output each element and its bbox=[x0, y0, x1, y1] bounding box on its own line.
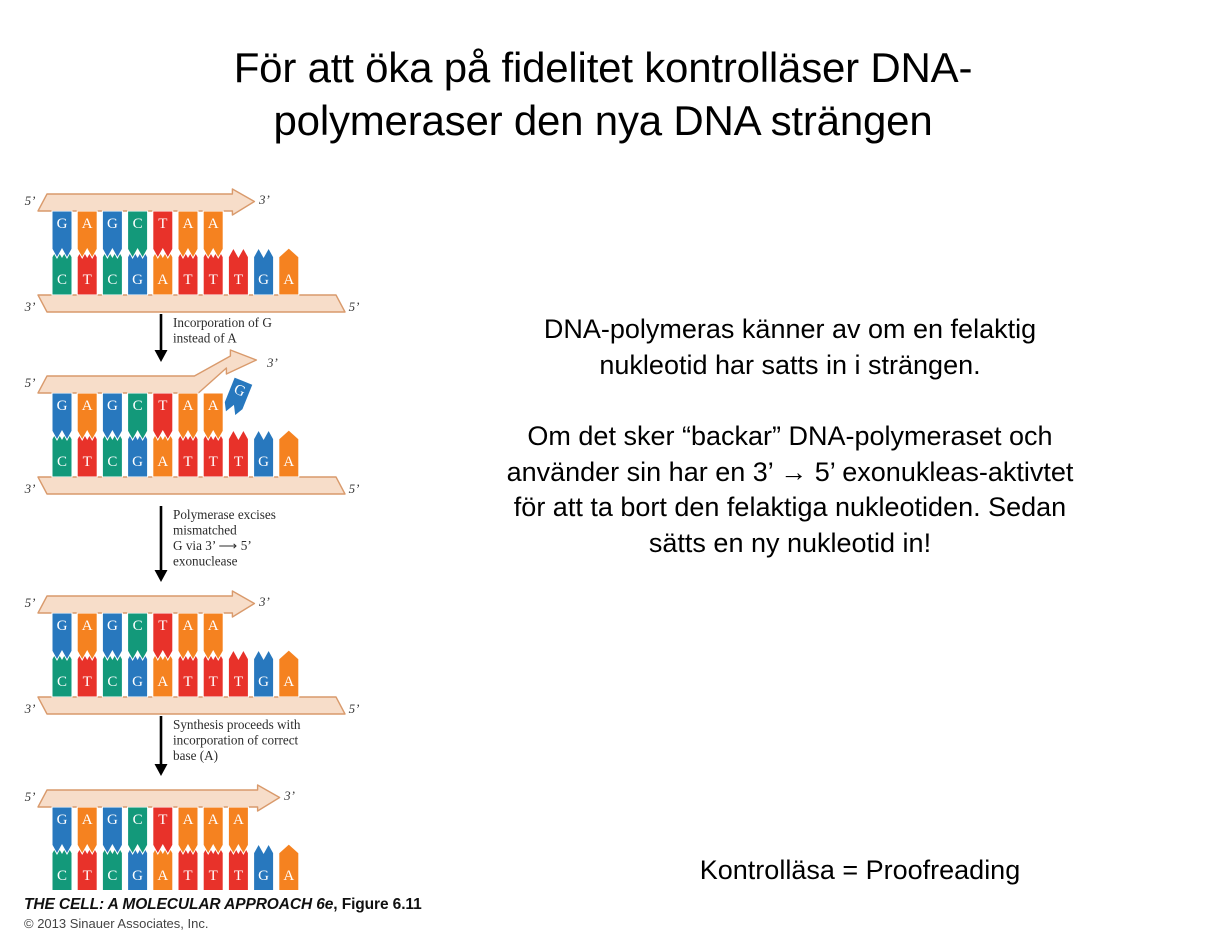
panel-1-bottom-base-letter-10: A bbox=[283, 272, 294, 288]
panel-3-top-base-letter-1: G bbox=[57, 618, 68, 634]
panel-2-top-base-letter-6: A bbox=[183, 398, 194, 414]
body-paragraph-2-line-4: sätts en ny nukleotid in! bbox=[430, 526, 1150, 562]
panel-3: CTCGATTTGAGAGCTAA5’3’3’5’ bbox=[24, 591, 360, 716]
panel-4-top-base-letter-3: G bbox=[107, 812, 118, 828]
panel-2-bottom-backbone bbox=[38, 477, 345, 494]
panel-3-top-left-end-label: 5’ bbox=[25, 595, 36, 610]
body-paragraph-1-line-2: nukleotid har satts in i strängen. bbox=[430, 348, 1150, 384]
panel-2-top-base-letter-1: G bbox=[57, 398, 68, 414]
panel-1-bottom-backbone bbox=[38, 295, 345, 312]
panel-2-bottom-base-letter-9: G bbox=[258, 454, 269, 470]
panel-1-bottom-left-end-label: 3’ bbox=[24, 299, 36, 314]
panel-4-bottom-base-letter-5: A bbox=[157, 868, 168, 884]
panel-2-bottom-base-letter-5: A bbox=[157, 454, 168, 470]
panel-4-bottom-base-letter-6: T bbox=[183, 868, 192, 884]
panel-2-bottom-base-letter-2: T bbox=[83, 454, 92, 470]
body-paragraph-2-line-3: för att ta bort den felaktiga nukleotide… bbox=[430, 490, 1150, 526]
panel-4-bottom-base-letter-10: A bbox=[283, 868, 294, 884]
annotation-1-line-1: Incorporation of G bbox=[173, 315, 272, 330]
panel-2-top-base-letter-4: C bbox=[133, 398, 143, 414]
panel-1-bottom-base-letter-6: T bbox=[183, 272, 192, 288]
panel-2-top-base-letter-3: G bbox=[107, 398, 118, 414]
annotation-3-line-2: incorporation of correct bbox=[173, 733, 299, 748]
panel-3-top-base-letter-3: G bbox=[107, 618, 118, 634]
panel-1-top-base-letter-2: A bbox=[82, 216, 93, 232]
panel-2-top-base-letter-7: A bbox=[208, 398, 219, 414]
panel-2: CTCGATTTGAGAGCTAAG5’3’3’5’ bbox=[24, 350, 360, 496]
panel-1-top-left-end-label: 5’ bbox=[25, 193, 36, 208]
panel-1-bottom-base-letter-1: C bbox=[57, 272, 67, 288]
panel-3-top-base-letter-2: A bbox=[82, 618, 93, 634]
panel-4-bottom-base-letter-9: G bbox=[258, 868, 269, 884]
body-paragraph-2-line-1: Om det sker “backar” DNA-polymeraset och bbox=[430, 419, 1150, 455]
annotation-2-line-1: Polymerase excises bbox=[173, 507, 276, 522]
panel-1-top-base-letter-3: G bbox=[107, 216, 118, 232]
panel-4-top-base-letter-6: A bbox=[183, 812, 194, 828]
panel-2-bottom-base-letter-6: T bbox=[183, 454, 192, 470]
annotation-2-line-4: exonuclease bbox=[173, 554, 238, 569]
page-title-line-1: För att öka på fidelitet kontrolläser DN… bbox=[60, 42, 1146, 95]
annotation-3-line-1: Synthesis proceeds with bbox=[173, 717, 301, 732]
annotation-3-arrow-head bbox=[155, 764, 168, 776]
panel-4-top-base-letter-7: A bbox=[208, 812, 219, 828]
panel-3-bottom-left-end-label: 3’ bbox=[24, 701, 36, 716]
panel-3-bottom-base-letter-5: A bbox=[157, 674, 168, 690]
panel-3-bottom-right-end-label: 5’ bbox=[349, 701, 360, 716]
panel-3-bottom-base-letter-2: T bbox=[83, 674, 92, 690]
panel-1-top-base-letter-1: G bbox=[57, 216, 68, 232]
panel-2-top-base-letter-2: A bbox=[82, 398, 93, 414]
panel-2-mismatched-nucleotide-G: G bbox=[221, 377, 253, 418]
panel-4: CTCGATTTGAGAGCTAAA5’3’3’5’ bbox=[24, 785, 360, 890]
panel-4-bottom-base-letter-8: T bbox=[234, 868, 243, 884]
annotation-1: Incorporation of Ginstead of A bbox=[155, 314, 273, 362]
panel-3-bottom-base-letter-3: C bbox=[107, 674, 117, 690]
annotation-1-line-2: instead of A bbox=[173, 331, 237, 346]
panel-1-top-base-letter-7: A bbox=[208, 216, 219, 232]
panel-2-bottom-right-end-label: 5’ bbox=[349, 481, 360, 496]
panel-2-bottom-base-letter-3: C bbox=[107, 454, 117, 470]
panel-2-top-right-end-label: 3’ bbox=[266, 355, 278, 370]
panel-1-top-base-letter-4: C bbox=[133, 216, 143, 232]
panel-3-top-base-letter-5: T bbox=[158, 618, 167, 634]
panel-2-bottom-base-letter-10: A bbox=[283, 454, 294, 470]
figure-credit-title: THE CELL: A MOLECULAR APPROACH 6e, Figur… bbox=[24, 896, 454, 914]
figure-credit: THE CELL: A MOLECULAR APPROACH 6e, Figur… bbox=[24, 896, 454, 931]
panel-4-bottom-base-letter-1: C bbox=[57, 868, 67, 884]
panel-1-bottom-base-letter-3: C bbox=[107, 272, 117, 288]
panel-3-bottom-backbone bbox=[38, 697, 345, 714]
panel-1-bottom-base-letter-4: G bbox=[132, 272, 143, 288]
panel-2-top-base-letter-5: T bbox=[158, 398, 167, 414]
body-paragraph-1: DNA-polymeras känner av om en felaktig n… bbox=[430, 312, 1150, 383]
dna-proofreading-svg: CTCGATTTGAGAGCTAA5’3’3’5’CTCGATTTGAGAGCT… bbox=[14, 178, 364, 890]
annotation-1-arrow-head bbox=[155, 350, 168, 362]
panel-4-bottom-base-letter-4: G bbox=[132, 868, 143, 884]
page-title: För att öka på fidelitet kontrolläser DN… bbox=[60, 42, 1146, 147]
panel-4-top-left-end-label: 5’ bbox=[25, 789, 36, 804]
panel-4-bottom-base-letter-2: T bbox=[83, 868, 92, 884]
panel-3-top-base-letter-4: C bbox=[133, 618, 143, 634]
panel-3-bottom-base-letter-6: T bbox=[183, 674, 192, 690]
panel-3-top-right-end-label: 3’ bbox=[258, 594, 270, 609]
annotation-3: Synthesis proceeds withincorporation of … bbox=[155, 716, 301, 776]
panel-1-bottom-base-letter-7: T bbox=[209, 272, 218, 288]
figure-credit-figure-number: , Figure 6.11 bbox=[333, 896, 421, 913]
panel-1-top-base-letter-6: A bbox=[183, 216, 194, 232]
panel-2-bottom-left-end-label: 3’ bbox=[24, 481, 36, 496]
panel-2-bottom-base-letter-8: T bbox=[234, 454, 243, 470]
panel-3-bottom-base-letter-4: G bbox=[132, 674, 143, 690]
panel-3-top-base-letter-7: A bbox=[208, 618, 219, 634]
panel-2-top-backbone-arrow bbox=[38, 350, 256, 393]
annotation-3-line-3: base (A) bbox=[173, 748, 218, 763]
panel-3-top-base-letter-6: A bbox=[183, 618, 194, 634]
panel-4-bottom-base-letter-3: C bbox=[107, 868, 117, 884]
panel-3-bottom-base-letter-7: T bbox=[209, 674, 218, 690]
body-paragraph-2: Om det sker “backar” DNA-polymeraset och… bbox=[430, 419, 1150, 562]
panel-2-top-left-end-label: 5’ bbox=[25, 375, 36, 390]
annotation-2-line-2: mismatched bbox=[173, 523, 237, 538]
panel-4-top-base-letter-1: G bbox=[57, 812, 68, 828]
panel-2-bottom-base-letter-7: T bbox=[209, 454, 218, 470]
body-paragraph-1-line-1: DNA-polymeras känner av om en felaktig bbox=[430, 312, 1150, 348]
annotation-2-line-3: G via 3’ ⟶ 5’ bbox=[173, 538, 252, 553]
panel-4-top-base-letter-8: A bbox=[233, 812, 244, 828]
annotation-2-arrow-head bbox=[155, 570, 168, 582]
dna-proofreading-figure: CTCGATTTGAGAGCTAA5’3’3’5’CTCGATTTGAGAGCT… bbox=[14, 178, 364, 890]
annotation-2: Polymerase excisesmismatchedG via 3’ ⟶ 5… bbox=[155, 506, 276, 582]
panel-4-top-base-letter-2: A bbox=[82, 812, 93, 828]
panel-1-bottom-base-letter-2: T bbox=[83, 272, 92, 288]
panel-3-bottom-base-letter-8: T bbox=[234, 674, 243, 690]
panel-1-bottom-base-letter-8: T bbox=[234, 272, 243, 288]
page-title-line-2: polymeraser den nya DNA strängen bbox=[60, 95, 1146, 148]
body-text-block: DNA-polymeras känner av om en felaktig n… bbox=[430, 312, 1150, 561]
panel-3-bottom-base-letter-10: A bbox=[283, 674, 294, 690]
panel-1-top-base-letter-5: T bbox=[158, 216, 167, 232]
panel-4-top-right-end-label: 3’ bbox=[283, 788, 295, 803]
panel-3-bottom-base-letter-9: G bbox=[258, 674, 269, 690]
panel-3-bottom-base-letter-1: C bbox=[57, 674, 67, 690]
panel-4-top-base-letter-4: C bbox=[133, 812, 143, 828]
figure-credit-book: THE CELL: A MOLECULAR APPROACH 6e bbox=[24, 896, 333, 913]
body-paragraph-2-line-2: använder sin har en 3’ → 5’ exonukleas-a… bbox=[430, 455, 1150, 491]
figure-credit-copyright: © 2013 Sinauer Associates, Inc. bbox=[24, 916, 454, 931]
panel-2-bottom-base-letter-4: G bbox=[132, 454, 143, 470]
panel-2-bottom-base-letter-1: C bbox=[57, 454, 67, 470]
panel-1: CTCGATTTGAGAGCTAA5’3’3’5’ bbox=[24, 189, 360, 314]
panel-1-bottom-base-letter-9: G bbox=[258, 272, 269, 288]
footnote-text: Kontrolläsa = Proofreading bbox=[560, 855, 1160, 886]
panel-4-top-base-letter-5: T bbox=[158, 812, 167, 828]
panel-1-bottom-base-letter-5: A bbox=[157, 272, 168, 288]
panel-1-top-right-end-label: 3’ bbox=[258, 192, 270, 207]
panel-1-bottom-right-end-label: 5’ bbox=[349, 299, 360, 314]
panel-4-bottom-base-letter-7: T bbox=[209, 868, 218, 884]
